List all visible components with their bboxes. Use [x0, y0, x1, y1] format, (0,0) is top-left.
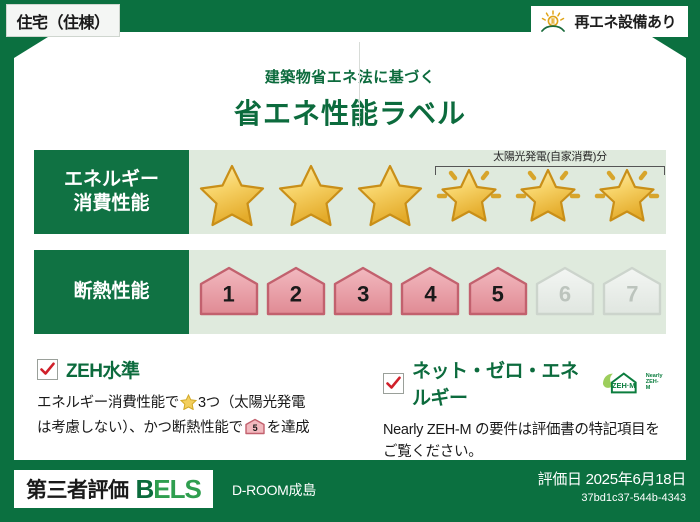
- evaluation-id: 37bd1c37-544b-4343: [538, 492, 686, 504]
- zeh-standard-check-icon: [37, 359, 58, 380]
- zeh-m-logo-sub-line2: ZEH-M: [646, 379, 659, 391]
- insulation-grade-scale: 1 2 3: [189, 250, 666, 334]
- renewable-energy-badge: 再エネ設備あり: [531, 6, 688, 37]
- energy-performance-label: エネルギー 消費性能: [34, 150, 189, 234]
- insulation-performance-label: 断熱性能: [34, 250, 189, 334]
- energy-performance-label-line2: 消費性能: [73, 192, 149, 216]
- building-type-tag: 住宅（住棟）: [6, 4, 120, 37]
- solar-annotation: 太陽光発電(自家消費)分: [435, 152, 665, 175]
- zeh-standard-description: エネルギー消費性能で3つ（太陽光発電 は考慮しない）、かつ断熱性能で5を達成: [37, 392, 367, 443]
- renewable-energy-badge-label: 再エネ設備あり: [574, 11, 676, 32]
- zeh-m-logo: ZEH·M Nearly ZEH-M: [600, 370, 663, 396]
- energy-performance-label-line1: エネルギー: [64, 168, 159, 192]
- zeh-standard-header: ZEH水準: [37, 356, 367, 383]
- net-zero-energy-description: Nearly ZEH-M の要件は評価書の特記項目をご覧ください。: [383, 419, 663, 464]
- insulation-grades-area: 1 2 3: [189, 250, 666, 334]
- solar-annotation-label: 太陽光発電(自家消費)分: [435, 152, 665, 163]
- insulation-grade-6: 6: [531, 261, 598, 323]
- zeh-standard-title: ZEH水準: [66, 356, 140, 383]
- star-3: [351, 159, 430, 231]
- energy-performance-stars-area: 太陽光発電(自家消費)分: [189, 150, 666, 234]
- zeh-desc-part3: を達成: [267, 420, 310, 436]
- inline-house-grade-icon: 5: [244, 423, 266, 439]
- bels-certification-badge: 第三者評価 BELS: [14, 470, 213, 508]
- zeh-standard-block: ZEH水準 エネルギー消費性能で3つ（太陽光発電 は考慮しない）、かつ断熱性能で…: [37, 356, 367, 464]
- insulation-performance-row: 断熱性能: [34, 250, 666, 334]
- title-block: 建築物省エネ法に基づく 省エネ性能ラベル: [17, 36, 683, 132]
- title-subtitle: 建築物省エネ法に基づく: [17, 66, 683, 87]
- star-2: [272, 159, 351, 231]
- svg-text:ZEH·M: ZEH·M: [612, 381, 635, 390]
- third-party-evaluation-label: 第三者評価: [26, 474, 129, 504]
- energy-performance-label: 住宅（住棟） 再エネ設備あり 建築物省エネ法: [0, 0, 700, 522]
- zeh-desc-part2: は考慮しない）、かつ断熱性能で: [37, 420, 243, 436]
- insulation-grade-5: 5: [464, 261, 531, 323]
- evaluation-date: 評価日 2025年6月18日: [538, 468, 686, 489]
- star-1: [193, 159, 272, 231]
- insulation-grade-2: 2: [262, 261, 329, 323]
- insulation-grade-7: 7: [599, 261, 666, 323]
- bels-logo-b: B: [136, 474, 154, 505]
- net-zero-energy-title: ネット・ゼロ・エネルギー: [412, 356, 588, 410]
- property-name: D-ROOM成島: [232, 480, 316, 500]
- sun-solar-icon: [539, 10, 567, 34]
- insulation-grade-3: 3: [330, 261, 397, 323]
- insulation-performance-label-text: 断熱性能: [73, 280, 149, 304]
- net-zero-energy-block: ネット・ゼロ・エネルギー ZEH·M Nearly ZEH-M Nearl: [383, 356, 663, 464]
- column-divider: [359, 42, 360, 128]
- inline-star-icon: [180, 398, 197, 414]
- page-title: 省エネ性能ラベル: [17, 92, 683, 132]
- insulation-grade-1: 1: [195, 261, 262, 323]
- zeh-desc-part1: エネルギー消費性能で: [37, 395, 179, 411]
- bels-logo-els: ELS: [153, 474, 201, 505]
- label-footer: 第三者評価 BELS D-ROOM成島 評価日 2025年6月18日 37bd1…: [0, 460, 700, 522]
- building-type-tag-label: 住宅（住棟）: [16, 9, 109, 33]
- insulation-grade-4: 4: [397, 261, 464, 323]
- net-zero-energy-check-icon: [383, 373, 404, 394]
- performance-rows: エネルギー 消費性能 太陽光発電(自家消費)分: [17, 150, 683, 334]
- label-card-content: 建築物省エネ法に基づく 省エネ性能ラベル エネルギー 消費性能 太陽光発電(自家…: [17, 36, 683, 456]
- net-zero-energy-header: ネット・ゼロ・エネルギー ZEH·M Nearly ZEH-M: [383, 356, 663, 410]
- energy-performance-row: エネルギー 消費性能 太陽光発電(自家消費)分: [34, 150, 666, 234]
- zeh-desc-star-count: 3つ（太陽光発電: [198, 395, 305, 411]
- svg-text:5: 5: [252, 423, 257, 433]
- criteria-section: ZEH水準 エネルギー消費性能で3つ（太陽光発電 は考慮しない）、かつ断熱性能で…: [17, 356, 683, 464]
- evaluation-info: 評価日 2025年6月18日 37bd1c37-544b-4343: [538, 468, 686, 504]
- solar-annotation-bracket: [435, 166, 665, 175]
